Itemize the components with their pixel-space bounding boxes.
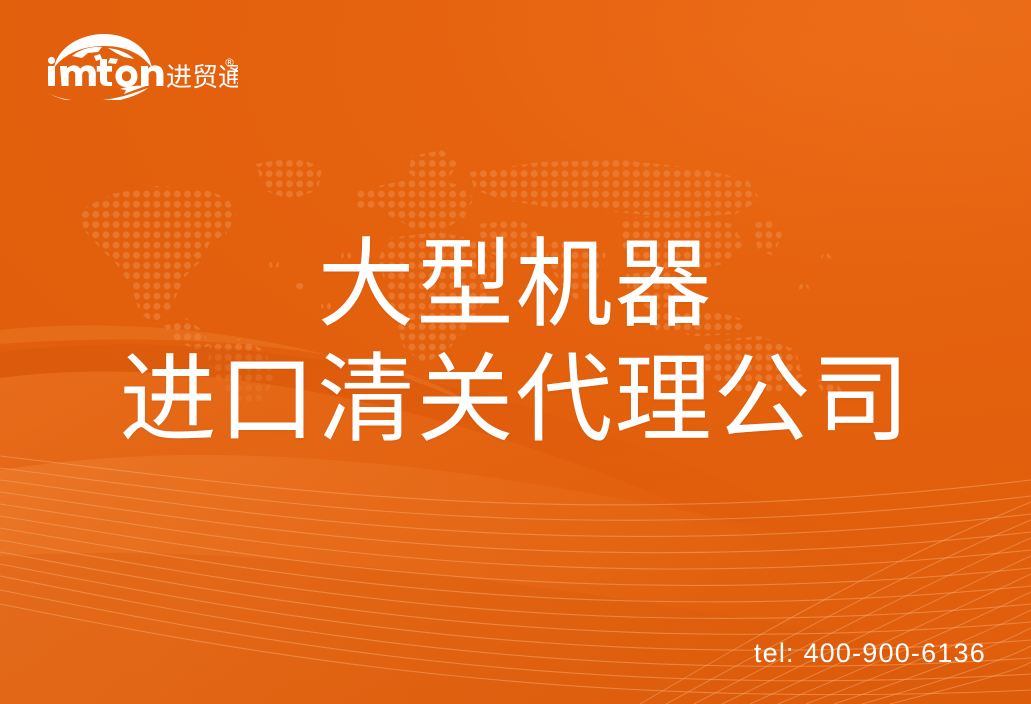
poster-banner: 进贸通 ® 大型机器 进口清关代理公司 tel: 400-900-6136	[0, 0, 1031, 704]
registered-trademark-icon: ®	[224, 56, 235, 69]
headline-line-1: 大型机器	[0, 236, 1031, 333]
swoosh-arrow-icon	[46, 86, 148, 100]
svg-text:®: ®	[224, 56, 235, 69]
page-title: 大型机器 进口清关代理公司	[0, 236, 1031, 448]
headline-line-2: 进口清关代理公司	[0, 351, 1031, 448]
brand-logo[interactable]: 进贸通 ®	[38, 32, 238, 100]
contact-phone[interactable]: tel: 400-900-6136	[754, 638, 986, 669]
brand-latin-wordmark	[48, 57, 163, 87]
